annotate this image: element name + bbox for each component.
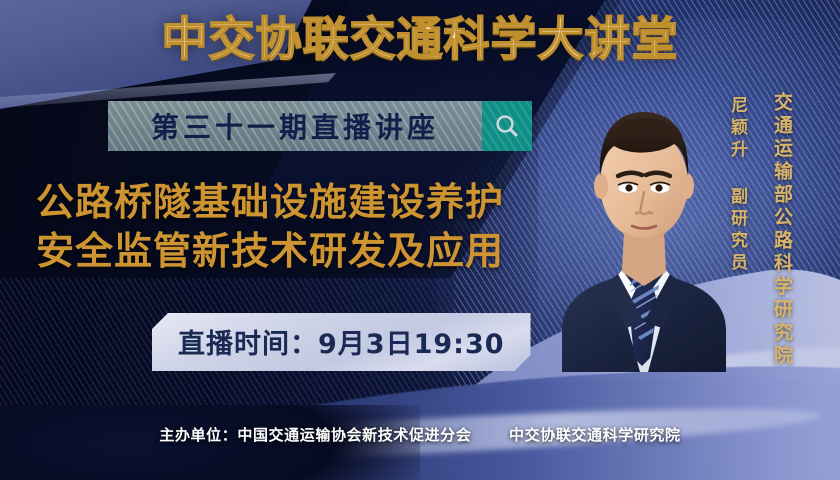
schedule-badge: 直播时间：9月3日19:30 (152, 313, 531, 371)
search-button[interactable] (482, 101, 532, 151)
footer: 主办单位：中国交通运输协会新技术促进分会 中交协联交通科学研究院 (0, 424, 840, 445)
footer-organizer: 主办单位：中国交通运输协会新技术促进分会 (159, 426, 471, 444)
lecture-poster: 中交协联交通科学大讲堂 第三十一期直播讲座 公路桥隧基础设施建设养护 安全监管新… (0, 0, 840, 480)
episode-label: 第三十一期直播讲座 (151, 106, 439, 146)
schedule-label: 直播时间：9月3日19:30 (178, 329, 505, 360)
lecture-topic-line-2: 安全监管新技术研发及应用 (36, 227, 504, 276)
page-title: 中交协联交通科学大讲堂 (0, 16, 840, 63)
speaker-name-title: 尼颖升 副研究员 (725, 96, 750, 275)
lecture-topic: 公路桥隧基础设施建设养护 安全监管新技术研发及应用 (36, 178, 504, 277)
episode-bar[interactable]: 第三十一期直播讲座 (108, 101, 532, 151)
search-icon (494, 113, 520, 139)
speaker-organization: 交通运输部公路科学研究院 (769, 92, 796, 368)
speaker-portrait (556, 72, 732, 372)
lecture-topic-line-1: 公路桥隧基础设施建设养护 (36, 178, 504, 227)
footer-institute: 中交协联交通科学研究院 (509, 426, 681, 444)
episode-label-container: 第三十一期直播讲座 (108, 101, 482, 151)
